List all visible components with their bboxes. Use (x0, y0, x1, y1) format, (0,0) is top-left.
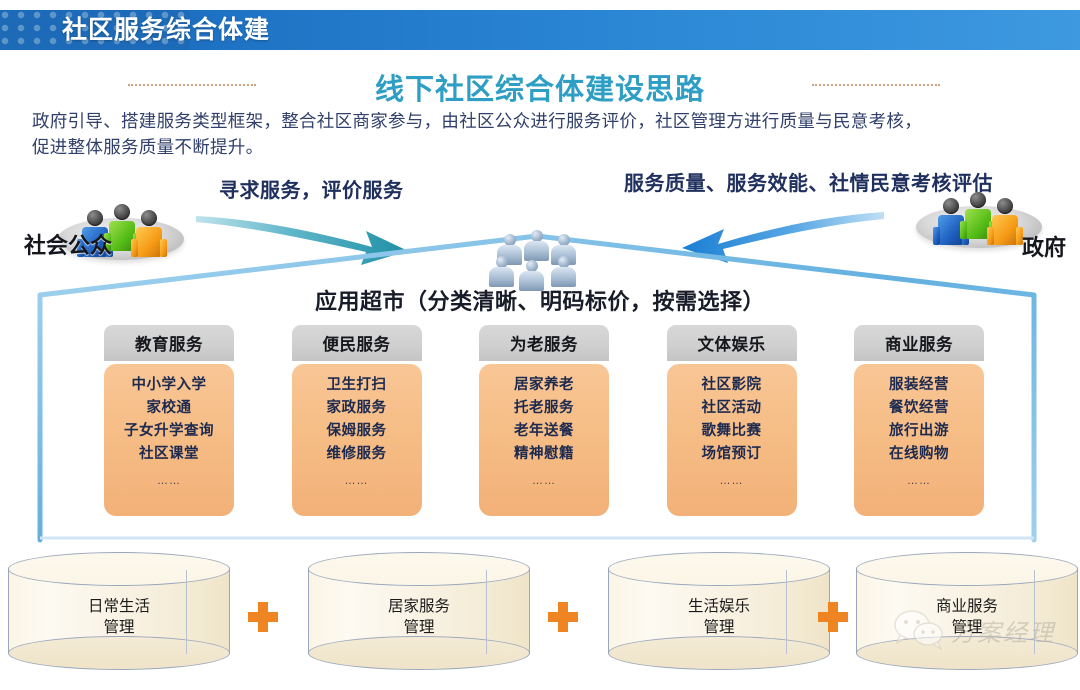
actor-public-label: 社会公众 (24, 228, 112, 260)
service-columns: 教育服务 中小学入学 家校通 子女升学查询 社区课堂 …… 便民服务 卫生打扫 … (104, 325, 984, 515)
cylinder-label-line2: 管理 (856, 617, 1078, 638)
slide-canvas: 社区服务综合体建 线下社区综合体建设思路 政府引导、搭建服务类型框架，整合社区商… (0, 0, 1080, 690)
column-body: 中小学入学 家校通 子女升学查询 社区课堂 …… (104, 364, 234, 516)
column-item[interactable]: 歌舞比赛 (702, 423, 762, 440)
column-more: …… (345, 475, 369, 487)
column-title: 便民服务 (292, 325, 422, 361)
column-item[interactable]: 在线购物 (889, 446, 949, 463)
column-title: 教育服务 (104, 325, 234, 361)
column-item[interactable]: 家政服务 (327, 400, 387, 417)
column-item[interactable]: 旅行出游 (889, 423, 949, 440)
column-item[interactable]: 精神慰籍 (514, 446, 574, 463)
column-item[interactable]: 场馆预订 (702, 446, 762, 463)
column-title: 为老服务 (479, 325, 609, 361)
cylinder-label: 日常生活 管理 (8, 596, 230, 638)
cylinder-label-line1: 日常生活 (8, 596, 230, 617)
cylinder-bottom (608, 636, 830, 670)
market-heading: 应用超市（分类清晰、明码标价，按需选择） (0, 284, 1080, 316)
plus-icon (248, 602, 278, 632)
column-more: …… (720, 475, 744, 487)
column-item[interactable]: 家校通 (147, 400, 192, 417)
cylinder-home-service[interactable]: 居家服务 管理 (308, 552, 530, 670)
cylinder-label-line1: 生活娱乐 (608, 596, 830, 617)
service-column-commerce[interactable]: 商业服务 服装经营 餐饮经营 旅行出游 在线购物 …… (854, 325, 984, 515)
column-item[interactable]: 社区活动 (702, 400, 762, 417)
column-item[interactable]: 卫生打扫 (327, 377, 387, 394)
cylinder-commerce[interactable]: 商业服务 管理 (856, 552, 1078, 670)
column-item[interactable]: 托老服务 (514, 400, 574, 417)
column-item[interactable]: 维修服务 (327, 446, 387, 463)
cylinder-label-line2: 管理 (308, 617, 530, 638)
cylinder-entertainment[interactable]: 生活娱乐 管理 (608, 552, 830, 670)
column-item[interactable]: 社区课堂 (139, 446, 199, 463)
cylinder-label-line2: 管理 (608, 617, 830, 638)
cylinder-top (308, 552, 530, 586)
column-body: 社区影院 社区活动 歌舞比赛 场馆预订 …… (667, 364, 797, 516)
cylinder-top (856, 552, 1078, 586)
column-item[interactable]: 老年送餐 (514, 423, 574, 440)
column-item[interactable]: 中小学入学 (132, 377, 207, 394)
column-title: 商业服务 (854, 325, 984, 361)
column-title: 文体娱乐 (667, 325, 797, 361)
actor-government-label: 政府 (1022, 230, 1066, 262)
cylinder-label: 居家服务 管理 (308, 596, 530, 638)
column-more: …… (532, 475, 556, 487)
figure-orange (136, 210, 162, 257)
service-column-convenience[interactable]: 便民服务 卫生打扫 家政服务 保姆服务 维修服务 …… (292, 325, 422, 515)
cylinder-label: 生活娱乐 管理 (608, 596, 830, 638)
cylinder-bottom (308, 636, 530, 670)
column-item[interactable]: 餐饮经营 (889, 400, 949, 417)
cylinder-label-line1: 居家服务 (308, 596, 530, 617)
crowd-icon (489, 228, 585, 286)
cylinder-top (608, 552, 830, 586)
cylinder-top (8, 552, 230, 586)
column-item[interactable]: 社区影院 (702, 377, 762, 394)
column-body: 居家养老 托老服务 老年送餐 精神慰籍 …… (479, 364, 609, 516)
cylinder-daily-life[interactable]: 日常生活 管理 (8, 552, 230, 670)
service-column-education[interactable]: 教育服务 中小学入学 家校通 子女升学查询 社区课堂 …… (104, 325, 234, 515)
column-item[interactable]: 子女升学查询 (124, 423, 214, 440)
management-cylinders: 日常生活 管理 居家服务 管理 生活娱乐 管理 (0, 552, 1080, 672)
column-item[interactable]: 服装经营 (889, 377, 949, 394)
figure-orange (992, 198, 1018, 245)
people-group-icon (938, 192, 1018, 245)
cylinder-label-line1: 商业服务 (856, 596, 1078, 617)
cylinder-bottom (856, 636, 1078, 670)
cylinder-label: 商业服务 管理 (856, 596, 1078, 638)
plus-icon (548, 602, 578, 632)
column-body: 服装经营 餐饮经营 旅行出游 在线购物 …… (854, 364, 984, 516)
column-item[interactable]: 保姆服务 (327, 423, 387, 440)
cylinder-bottom (8, 636, 230, 670)
cylinder-label-line2: 管理 (8, 617, 230, 638)
column-item[interactable]: 居家养老 (514, 377, 574, 394)
column-body: 卫生打扫 家政服务 保姆服务 维修服务 …… (292, 364, 422, 516)
service-column-elderly[interactable]: 为老服务 居家养老 托老服务 老年送餐 精神慰籍 …… (479, 325, 609, 515)
service-column-culture[interactable]: 文体娱乐 社区影院 社区活动 歌舞比赛 场馆预订 …… (667, 325, 797, 515)
column-more: …… (907, 475, 931, 487)
column-more: …… (157, 475, 181, 487)
